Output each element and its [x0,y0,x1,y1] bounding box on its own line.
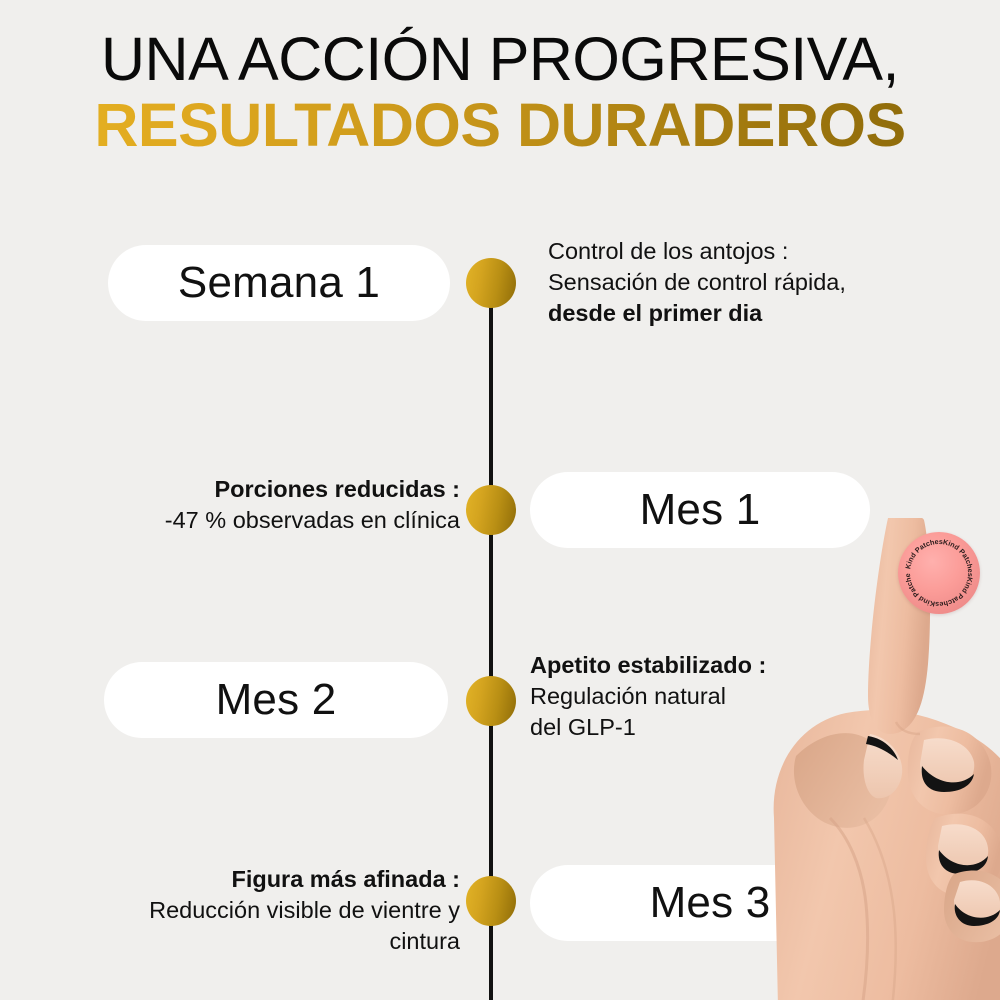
timeline-pill-mes-3[interactable]: Mes 3 [530,865,890,941]
description-body-line-1: Regulación natural [530,681,930,712]
timeline-pill-label: Mes 3 [650,878,771,928]
patch-brand-text-3: Kind Patches [935,576,975,609]
thumb [794,733,892,828]
title-line-primary: UNA ACCIÓN PROGRESIVA, [0,28,1000,91]
timeline-description-step-4: Figura más afinada : Reducción visible d… [50,864,460,957]
description-body-line-2: cintura [50,926,460,957]
svg-text:Kind Patches Kind Patche: Kind Patches Kind Patches Kind Patches K… [898,532,975,609]
ring-finger [926,814,1000,896]
timeline-description-step-3: Apetito estabilizado : Regulación natura… [530,650,930,743]
infographic-canvas: UNA ACCIÓN PROGRESIVA, RESULTADOS DURADE… [0,0,1000,1000]
patch-brand-text-1: Kind Patches [903,537,943,570]
middle-finger-nail-tip [922,766,974,792]
description-lead: Figura más afinada : [50,864,460,895]
middle-finger-nail [920,738,974,790]
timeline-pill-label: Mes 2 [216,675,337,725]
description-lead: Control de los antojos : [548,236,968,267]
timeline-description-step-2: Porciones reducidas : -47 % observadas e… [60,474,460,536]
description-body-line-2: desde el primer dia [548,298,968,329]
ring-finger-nail-tip [939,850,988,874]
timeline-dot-step-3 [466,676,516,726]
description-body-line-1: -47 % observadas en clínica [60,505,460,536]
little-finger-nail [954,880,1000,924]
timeline-pill-mes-1[interactable]: Mes 1 [530,472,870,548]
patch-brand-text-2: Kind Patches [942,537,975,577]
description-body-line-1: Reducción visible de vientre y [50,895,460,926]
timeline-pill-mes-2[interactable]: Mes 2 [104,662,448,738]
little-finger [944,870,1000,942]
palm-shape [774,710,1000,1000]
timeline-dot-step-1 [466,258,516,308]
little-finger-nail-tip [955,904,1000,926]
patch-brand-ring: Kind Patches Kind Patches Kind Patches K… [898,532,980,614]
description-body-line-1: Sensación de control rápida, [548,267,968,298]
ring-finger-nail [938,824,988,872]
timeline-pill-label: Mes 1 [640,485,761,535]
page-title: UNA ACCIÓN PROGRESIVA, RESULTADOS DURADE… [0,28,1000,159]
description-lead: Porciones reducidas : [60,474,460,505]
thumb-nail [864,734,903,798]
timeline-dot-step-2 [466,485,516,535]
description-lead: Apetito estabilizado : [530,650,930,681]
timeline-description-step-1: Control de los antojos : Sensación de co… [548,236,968,329]
timeline-dot-step-4 [466,876,516,926]
title-line-accent: RESULTADOS DURADEROS [0,91,1000,159]
description-body-line-2: del GLP-1 [530,712,930,743]
timeline-pill-label: Semana 1 [178,258,380,308]
timeline-pill-semana-1[interactable]: Semana 1 [108,245,450,321]
